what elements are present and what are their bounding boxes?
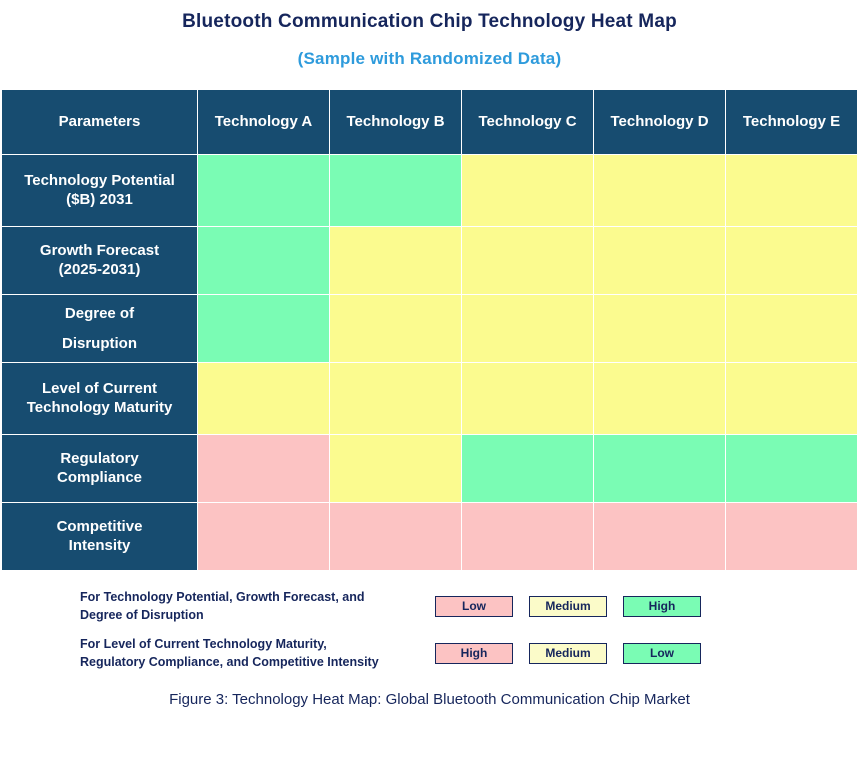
row-label-competitive-intensity: Competitive Intensity	[2, 503, 198, 571]
heatmap-cell-r5-c4	[726, 503, 858, 571]
heatmap-cell-r1-c2	[462, 227, 594, 295]
row-label-line-1: Technology Potential	[24, 172, 175, 189]
heatmap-cell-r3-c1	[330, 363, 462, 435]
heatmap-cell-r2-c1	[330, 295, 462, 363]
row-label-degree-of-disruption: Degree of Disruption	[2, 295, 198, 363]
heatmap-cell-r2-c4	[726, 295, 858, 363]
table-row: Competitive Intensity	[2, 503, 858, 571]
legend-swatches-1: Low Medium High	[435, 596, 701, 617]
legend-swatch-high-pink: High	[435, 643, 513, 664]
heatmap-cell-r4-c0	[198, 435, 330, 503]
heatmap-cell-r3-c3	[594, 363, 726, 435]
legend: For Technology Potential, Growth Forecas…	[80, 588, 780, 683]
row-label-line-2: ($B) 2031	[66, 191, 133, 208]
row-label-line-1: Degree of	[65, 305, 134, 322]
row-label-technology-potential: Technology Potential ($B) 2031	[2, 155, 198, 227]
legend-description-2: For Level of Current Technology Maturity…	[80, 635, 435, 671]
legend-swatch-medium-yellow-2: Medium	[529, 643, 607, 664]
heatmap-cell-r3-c0	[198, 363, 330, 435]
heatmap-cell-r0-c0	[198, 155, 330, 227]
row-label-line-2: Disruption	[62, 335, 137, 352]
row-label-technology-maturity: Level of Current Technology Maturity	[2, 363, 198, 435]
row-label-line-2: Compliance	[57, 469, 142, 486]
heatmap-cell-r0-c4	[726, 155, 858, 227]
figure-caption: Figure 3: Technology Heat Map: Global Bl…	[0, 691, 859, 708]
legend-swatch-low-green: Low	[623, 643, 701, 664]
row-label-growth-forecast: Growth Forecast (2025-2031)	[2, 227, 198, 295]
heatmap-cell-r5-c2	[462, 503, 594, 571]
column-header-technology-b: Technology B	[330, 90, 462, 155]
heatmap-cell-r5-c3	[594, 503, 726, 571]
legend-swatches-2: High Medium Low	[435, 643, 701, 664]
legend-swatch-high-green: High	[623, 596, 701, 617]
column-header-technology-d: Technology D	[594, 90, 726, 155]
column-header-technology-a: Technology A	[198, 90, 330, 155]
column-header-technology-e: Technology E	[726, 90, 858, 155]
heatmap-cell-r3-c2	[462, 363, 594, 435]
legend-description-1: For Technology Potential, Growth Forecas…	[80, 588, 435, 624]
column-header-technology-c: Technology C	[462, 90, 594, 155]
table-row: Growth Forecast (2025-2031)	[2, 227, 858, 295]
heatmap-cell-r4-c4	[726, 435, 858, 503]
heatmap-cell-r5-c1	[330, 503, 462, 571]
legend-description-2-line-1: For Level of Current Technology Maturity…	[80, 637, 327, 651]
row-label-line-2: Technology Maturity	[27, 399, 173, 416]
heatmap-cell-r0-c2	[462, 155, 594, 227]
table-row: Technology Potential ($B) 2031	[2, 155, 858, 227]
row-label-line-1: Growth Forecast	[40, 242, 159, 259]
heatmap-cell-r4-c1	[330, 435, 462, 503]
row-label-regulatory-compliance: Regulatory Compliance	[2, 435, 198, 503]
heatmap-cell-r0-c3	[594, 155, 726, 227]
heatmap-cell-r1-c1	[330, 227, 462, 295]
heatmap-figure: Bluetooth Communication Chip Technology …	[0, 0, 859, 763]
heatmap-cell-r1-c3	[594, 227, 726, 295]
heatmap-cell-r2-c3	[594, 295, 726, 363]
heatmap-cell-r2-c2	[462, 295, 594, 363]
column-header-parameters: Parameters	[2, 90, 198, 155]
heatmap-cell-r0-c1	[330, 155, 462, 227]
heatmap-cell-r1-c4	[726, 227, 858, 295]
legend-description-2-line-2: Regulatory Compliance, and Competitive I…	[80, 655, 379, 669]
legend-description-1-line-2: Degree of Disruption	[80, 608, 204, 622]
table-row: Level of Current Technology Maturity	[2, 363, 858, 435]
row-label-line-2: Intensity	[69, 537, 131, 554]
row-label-line-1: Regulatory	[60, 450, 138, 467]
page-title: Bluetooth Communication Chip Technology …	[0, 11, 859, 33]
heatmap-cell-r3-c4	[726, 363, 858, 435]
heatmap-table: Parameters Technology A Technology B Tec…	[1, 89, 858, 571]
row-label-line-1: Competitive	[57, 518, 143, 535]
table-row: Degree of Disruption	[2, 295, 858, 363]
legend-description-1-line-1: For Technology Potential, Growth Forecas…	[80, 590, 365, 604]
heatmap-cell-r4-c2	[462, 435, 594, 503]
legend-swatch-medium-yellow: Medium	[529, 596, 607, 617]
table-row: Regulatory Compliance	[2, 435, 858, 503]
table-header-row: Parameters Technology A Technology B Tec…	[2, 90, 858, 155]
heatmap-cell-r2-c0	[198, 295, 330, 363]
page-subtitle: (Sample with Randomized Data)	[0, 49, 859, 69]
heatmap-cell-r4-c3	[594, 435, 726, 503]
heatmap-cell-r1-c0	[198, 227, 330, 295]
legend-swatch-low-pink: Low	[435, 596, 513, 617]
legend-row-1: For Technology Potential, Growth Forecas…	[80, 588, 780, 624]
row-label-line-1: Level of Current	[42, 380, 157, 397]
row-label-line-2: (2025-2031)	[59, 261, 141, 278]
heatmap-cell-r5-c0	[198, 503, 330, 571]
legend-row-2: For Level of Current Technology Maturity…	[80, 635, 780, 671]
